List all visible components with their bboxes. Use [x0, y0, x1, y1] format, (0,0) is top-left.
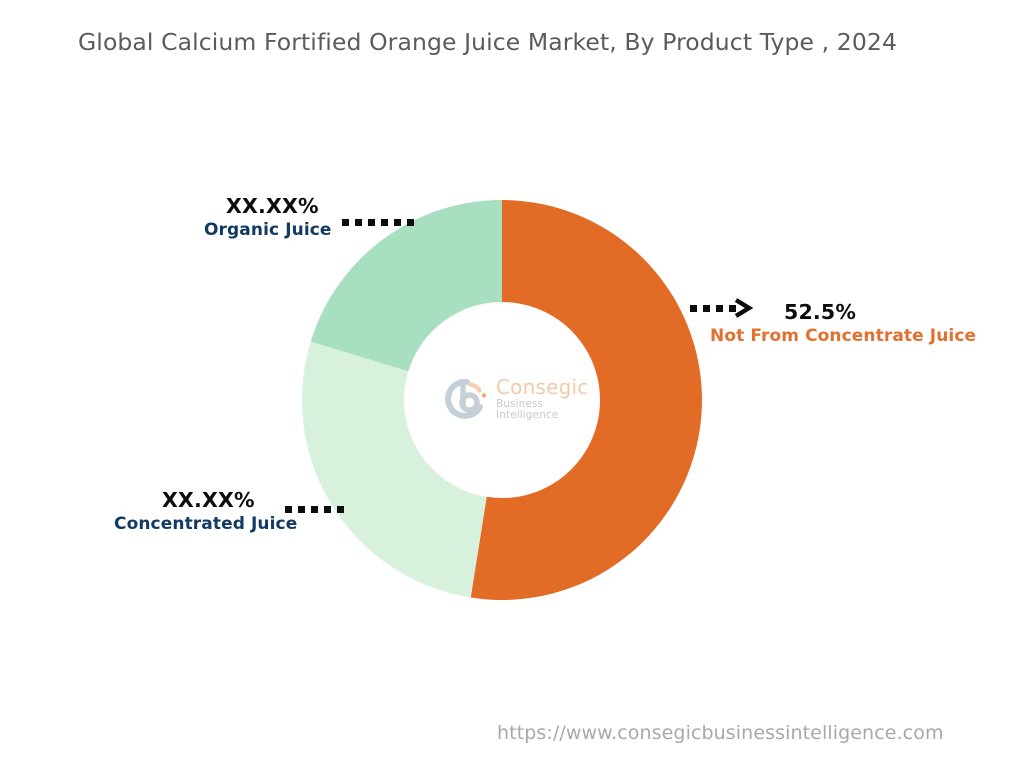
callout-concentrated-juice-label: Concentrated Juice — [114, 514, 297, 534]
callout-not-from-concentrate-juice: 52.5% Not From Concentrate Juice — [710, 300, 976, 346]
callout-organic-juice: XX.XX% Organic Juice — [204, 194, 332, 240]
callout-not-from-concentrate-juice-percent: 52.5% — [784, 300, 976, 324]
callout-not-from-concentrate-juice-label: Not From Concentrate Juice — [710, 326, 976, 346]
callout-organic-juice-percent: XX.XX% — [226, 194, 332, 218]
pie-slice-not-from-concentrate-juice[interactable] — [471, 200, 702, 600]
callout-concentrated-juice: XX.XX% Concentrated Juice — [114, 488, 297, 534]
pie-slice-concentrated-juice[interactable] — [302, 342, 487, 598]
leader-line-organic-juice — [342, 219, 414, 226]
footer-url[interactable]: https://www.consegicbusinessintelligence… — [497, 722, 944, 744]
donut-chart-svg — [0, 0, 1024, 768]
callout-organic-juice-label: Organic Juice — [204, 220, 332, 240]
donut-chart — [0, 0, 1024, 768]
callout-concentrated-juice-percent: XX.XX% — [162, 488, 297, 512]
